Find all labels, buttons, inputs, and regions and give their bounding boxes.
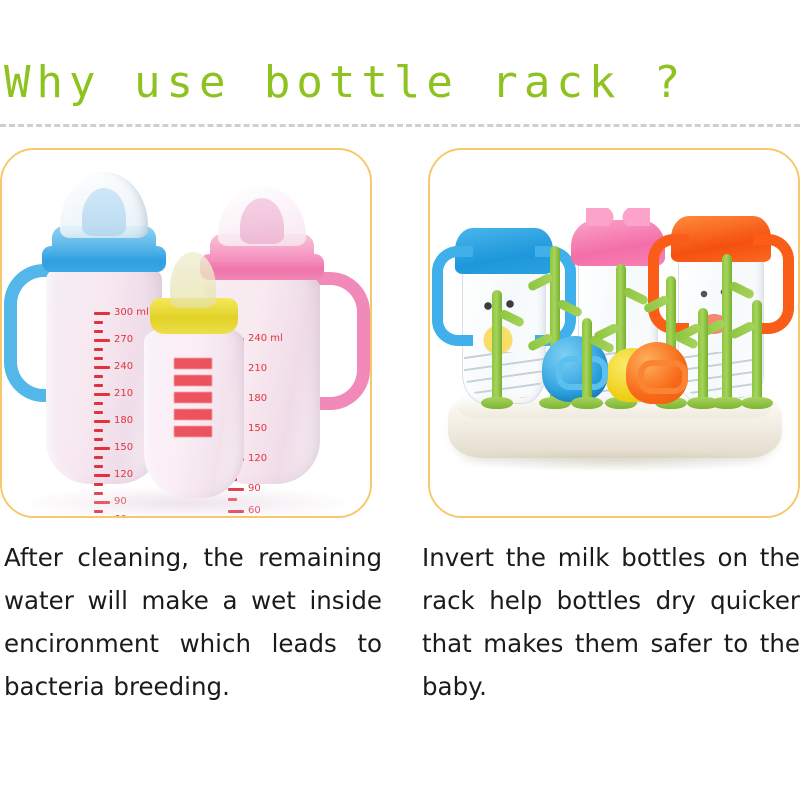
pink-cup-ears <box>586 208 650 226</box>
scale-label: 180 <box>248 395 267 403</box>
scale-label: 180 <box>114 417 133 425</box>
image-card-before: 300 ml 270 240 210 <box>0 148 372 518</box>
yellow-cap-bottle <box>140 250 248 498</box>
orange-cup-coil <box>680 352 762 398</box>
page-root: Why use bottle rack ? <box>0 0 800 800</box>
blue-cup-handle-left <box>432 246 473 346</box>
drying-peg <box>582 318 592 404</box>
drying-peg <box>752 300 762 404</box>
header-divider <box>0 124 800 127</box>
caption-before: After cleaning, the remaining water will… <box>4 536 382 708</box>
orange-bottle-hood <box>626 342 688 404</box>
rack-drop-shadow <box>456 450 774 472</box>
caption-row: After cleaning, the remaining water will… <box>0 536 800 708</box>
drying-peg <box>722 254 732 404</box>
scale-label: 240 <box>114 363 133 371</box>
page-title: Why use bottle rack ? <box>4 55 686 111</box>
scale-label: 120 <box>114 471 133 479</box>
image-card-row: 300 ml 270 240 210 <box>0 148 800 520</box>
caption-after: Invert the milk bottles on the rack help… <box>422 536 800 708</box>
yellow-bottle-nipple <box>170 252 216 308</box>
drying-peg <box>698 308 708 404</box>
drying-peg <box>492 290 502 404</box>
scale-label: 240 ml <box>248 335 283 343</box>
scale-label: 150 <box>114 444 133 452</box>
bottles-illustration: 300 ml 270 240 210 <box>2 150 370 516</box>
rack-illustration <box>430 150 798 516</box>
rack-photo <box>430 150 798 516</box>
scale-label: 210 <box>248 365 267 373</box>
yellow-bottle-label <box>174 358 212 442</box>
orange-hood-tab <box>638 360 688 394</box>
scale-label: 210 <box>114 390 133 398</box>
scale-label: 270 <box>114 336 133 344</box>
image-card-after <box>428 148 800 518</box>
bottles-photo: 300 ml 270 240 210 <box>2 150 370 516</box>
scale-label: 150 <box>248 425 267 433</box>
scale-label: 120 <box>248 455 267 463</box>
